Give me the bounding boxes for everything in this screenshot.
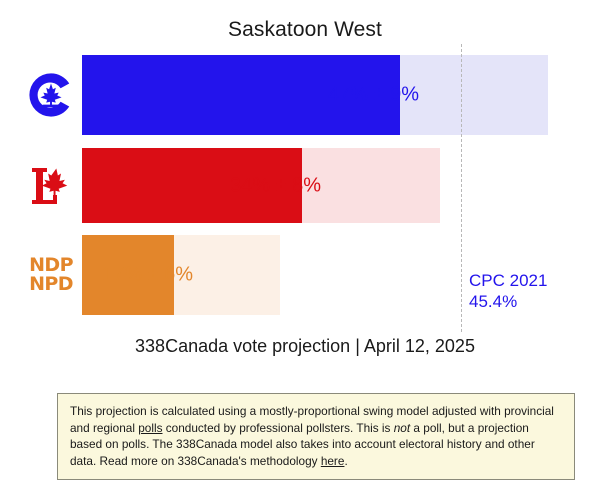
reference-line: [461, 44, 462, 332]
polls-link[interactable]: polls: [138, 421, 162, 435]
here-link[interactable]: here: [321, 454, 345, 468]
lpc-bar-label: 34% ± 8%: [230, 174, 321, 197]
lpc-logo-icon: [26, 164, 76, 208]
ndp-logo: NDP NPD: [22, 235, 80, 315]
ndp-bar-label: 17% ± 6%: [102, 264, 193, 287]
ndp-logo-line2: NPD: [29, 275, 73, 294]
reference-line-label: CPC 2021 45.4%: [469, 270, 547, 312]
cpc-logo-icon: [27, 71, 75, 119]
bar-row: 34% ± 8%: [0, 148, 610, 223]
footnote-emphasis-not: not: [394, 421, 410, 435]
lpc-logo: [22, 148, 80, 223]
reference-line-label-party: CPC 2021: [469, 270, 547, 291]
footnote-text-part2: conducted by professional pollsters. Thi…: [162, 421, 393, 435]
bar-row: 47% ± 9%: [0, 55, 610, 135]
footnote-text-part4: .: [344, 454, 347, 468]
reference-line-label-value: 45.4%: [469, 291, 547, 312]
ndp-logo-text: NDP NPD: [29, 256, 73, 294]
footnote-box: This projection is calculated using a mo…: [57, 393, 575, 480]
page-title: Saskatoon West: [0, 18, 610, 42]
cpc-bar-label: 47% ± 9%: [328, 84, 419, 107]
chart-caption: 338Canada vote projection | April 12, 20…: [0, 336, 610, 357]
cpc-logo: [22, 55, 80, 135]
cpc-bar-track: [82, 55, 548, 135]
